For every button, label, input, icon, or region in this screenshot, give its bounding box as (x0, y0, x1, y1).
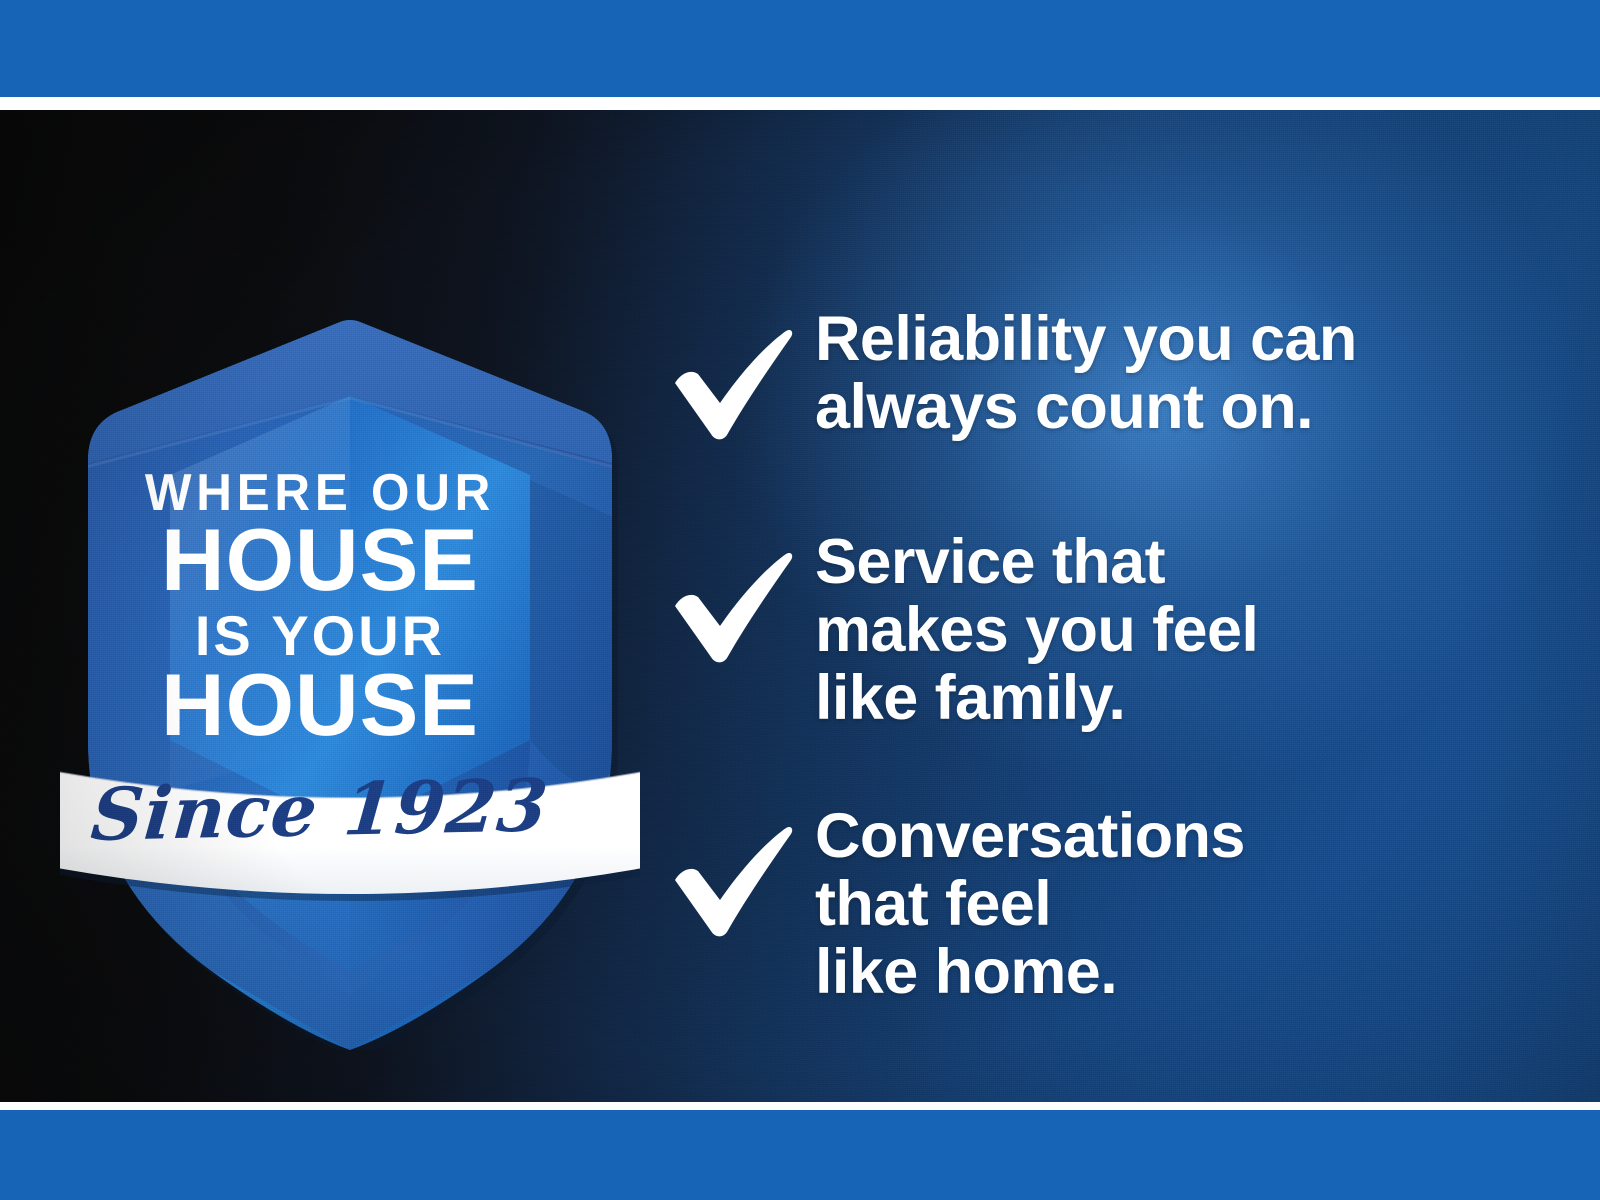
benefit-item-conversations: Conversations that feel like home. (665, 802, 1495, 1006)
benefit-line: Reliability you can (815, 305, 1495, 373)
bottom-brand-bar (0, 1110, 1600, 1200)
benefit-line: Conversations (815, 802, 1495, 870)
benefit-line: Service that (815, 528, 1495, 596)
benefit-line: always count on. (815, 373, 1495, 441)
benefit-text-conversations: Conversations that feel like home. (815, 802, 1495, 1006)
benefit-item-reliability: Reliability you can always count on. (665, 305, 1495, 442)
benefit-line: that feel (815, 870, 1495, 938)
badge-line-is-your: IS YOUR (60, 610, 580, 662)
shield-badge: WHERE OUR HOUSE IS YOUR HOUSE Since 1923 (60, 270, 640, 1050)
badge-ribbon-since: Since 1923 (56, 761, 583, 857)
benefit-item-service: Service that makes you feel like family. (665, 528, 1495, 732)
benefit-text-service: Service that makes you feel like family. (815, 528, 1495, 732)
benefit-line: like home. (815, 938, 1495, 1006)
benefits-list: Reliability you can always count on. Ser… (665, 305, 1495, 1006)
benefit-text-reliability: Reliability you can always count on. (815, 305, 1495, 441)
benefit-line: like family. (815, 664, 1495, 732)
main-panel: WHERE OUR HOUSE IS YOUR HOUSE Since 1923… (0, 110, 1600, 1102)
badge-line-house-1: HOUSE (60, 520, 580, 601)
banner-canvas: WHERE OUR HOUSE IS YOUR HOUSE Since 1923… (0, 0, 1600, 1200)
benefit-line: makes you feel (815, 596, 1495, 664)
checkmark-icon (665, 305, 815, 442)
top-brand-bar (0, 0, 1600, 97)
checkmark-icon (665, 528, 815, 665)
badge-line-house-2: HOUSE (60, 665, 580, 746)
checkmark-icon (665, 802, 815, 939)
